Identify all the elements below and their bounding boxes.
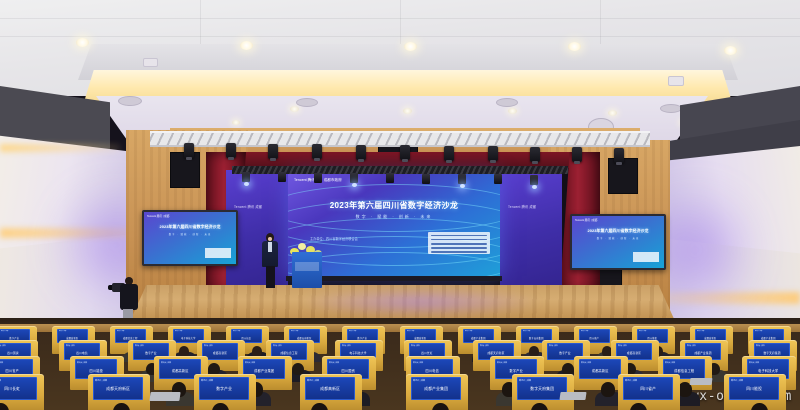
- seat-sign-badge: 腾讯云 | 成都: [291, 331, 298, 332]
- seat-sign-org: 成都高新区: [203, 351, 237, 355]
- main-screen-subtitle: 数字 · 赋能 · 创新 · 未来: [288, 214, 500, 220]
- seat-sign-org: 数字产业: [134, 351, 168, 355]
- stage-light-5: [356, 145, 366, 160]
- light-beam-3: [460, 184, 465, 188]
- seat-sign-badge: 腾讯云 | 成都: [77, 361, 87, 364]
- downlight-3: [404, 42, 417, 51]
- seat-sign-badge: 腾讯云 | 成都: [665, 361, 675, 364]
- seat-sign-badge: 腾讯云 | 成都: [581, 331, 588, 332]
- ceiling-vent-3: [496, 98, 518, 107]
- stage-light-7: [444, 146, 454, 161]
- seat-sign-badge: 腾讯云 | 成都: [342, 345, 351, 347]
- seat-sign-badge: 腾讯云 | 成都: [245, 361, 255, 364]
- inner-stage-light-3: [314, 173, 322, 183]
- led-panel-right: Tencent 腾讯 成都: [500, 170, 562, 288]
- speaker-shirt: [268, 242, 272, 252]
- downlight-1: [76, 38, 89, 47]
- inner-stage-light-7: [458, 174, 466, 184]
- seat-sign-badge: 腾讯云 | 成都: [349, 331, 356, 332]
- seat-sign-badge: 腾讯云 | 成都: [161, 361, 171, 364]
- auditorium-photo: Tencent 腾讯 成都 Tencent 腾讯 成都 Tencent 腾讯 |…: [0, 0, 800, 410]
- inner-stage-light-1: [242, 172, 250, 182]
- seat-name-sign: 腾讯云 | 成都成都天府新区: [93, 377, 143, 400]
- seat-sign-badge: 腾讯云 | 成都: [731, 379, 743, 382]
- seat-sign-org: 四川国资: [328, 368, 368, 373]
- audience-member-head: [601, 382, 615, 397]
- seat-sign-badge: 腾讯云 | 成都: [273, 345, 282, 347]
- stage-light-10: [572, 147, 582, 162]
- seat-sign-badge: 腾讯云 | 成都: [0, 345, 6, 347]
- downlight-4: [568, 42, 581, 51]
- inner-stage-light-4: [350, 173, 358, 183]
- inner-stage-light-2: [278, 172, 286, 182]
- seat-sign-org: 数字产业: [0, 336, 29, 340]
- seat-sign-org: 数字天府集团: [755, 351, 789, 355]
- seat-sign-org: 数字产业: [348, 336, 377, 340]
- stage-light-11: [614, 148, 624, 163]
- seat-sign-org: 成都信息工程: [116, 336, 145, 340]
- seat-sign-org: 成都产业集团: [686, 351, 720, 355]
- seat-sign-badge: 腾讯云 | 成都: [201, 379, 213, 382]
- seat-sign-badge: 腾讯云 | 成都: [66, 345, 75, 347]
- seat-sign-org: 电子科技大学: [341, 351, 375, 355]
- seat-name-sign: 腾讯云 | 成都成都产业集团: [411, 377, 461, 400]
- seat-sign-org: 四川省产: [580, 336, 609, 340]
- side-screen-right-title: 2023年第六届四川省数字经济沙龙: [572, 228, 664, 234]
- side-screen-left-title: 2023年第六届四川省数字经济沙龙: [144, 224, 236, 230]
- seat-sign-org: 数字产业: [548, 351, 582, 355]
- seat-sign-badge: 腾讯云 | 成都: [1, 331, 8, 332]
- seat-sign-org: 成都天府新区: [94, 387, 142, 392]
- seat-sign-badge: 腾讯云 | 成都: [117, 331, 124, 332]
- main-screen-info-card: [428, 232, 490, 254]
- stage-light-3: [268, 144, 278, 159]
- stage-light-4: [312, 144, 322, 159]
- downlight-5: [724, 46, 737, 55]
- seat-sign-badge: 腾讯云 | 成都: [204, 345, 213, 347]
- seat-name-sign: 腾讯云 | 成都四川省产: [623, 377, 673, 400]
- side-screen-right-subtitle: 数字 · 赋能 · 创新 · 未来: [572, 236, 664, 240]
- side-screen-left-card: [205, 248, 231, 258]
- wall-uplight-left-top: [0, 144, 120, 152]
- seat-sign-badge: 腾讯云 | 成都: [329, 361, 339, 364]
- seat-sign-badge: 腾讯云 | 成都: [307, 379, 319, 382]
- seat-sign-badge: 腾讯云 | 成都: [618, 345, 627, 347]
- seat-sign-org: 四川国资: [0, 351, 30, 355]
- main-screen-logo-1: Tencent 腾讯: [294, 178, 315, 183]
- seat-sign-org: 成都高新区: [696, 336, 725, 340]
- seat-sign-org: 四川长虹: [410, 351, 444, 355]
- seat-sign-org: 数字天府集团: [522, 336, 551, 340]
- ceiling-vent-4: [660, 104, 682, 113]
- seat-sign-badge: 腾讯云 | 成都: [497, 361, 507, 364]
- podium-front-panel: [295, 262, 319, 271]
- seat-sign-org: 成都天府新区: [290, 336, 319, 340]
- seat-sign-badge: 腾讯云 | 成都: [523, 331, 530, 332]
- downlight-2: [240, 41, 253, 50]
- audience-laptop: [690, 378, 713, 385]
- seat-sign-org: 成都产业集团: [464, 336, 493, 340]
- seat-sign-org: 四川能投: [76, 368, 116, 373]
- downlight-inner-2: [403, 108, 412, 114]
- seat-sign-badge: 腾讯云 | 成都: [413, 361, 423, 364]
- seat-sign-badge: 腾讯云 | 成都: [549, 345, 558, 347]
- seat-sign-org: 四川省产: [0, 368, 32, 373]
- seat-sign-badge: 腾讯云 | 成都: [95, 379, 107, 382]
- stage-light-9: [530, 147, 540, 162]
- seat-sign-org: 四川能投: [638, 336, 667, 340]
- seat-sign-badge: 腾讯云 | 成都: [0, 361, 3, 364]
- inner-stage-light-8: [494, 174, 502, 184]
- seat-sign-org: 数字产业: [496, 368, 536, 373]
- seat-sign-badge: 腾讯云 | 成都: [175, 331, 182, 332]
- seat-sign-org: 四川电信: [65, 351, 99, 355]
- side-screen-right-header: Tencent 腾讯 | 成都: [575, 218, 597, 222]
- downlight-inner-4: [608, 110, 617, 116]
- seat-sign-org: 成都高新区: [406, 336, 435, 340]
- seat-sign-org: 数字天府集团: [518, 387, 566, 392]
- seat-sign-org: 成都高新区: [617, 351, 651, 355]
- ceiling-vent-2: [296, 98, 318, 107]
- downlight-inner-3: [508, 108, 517, 114]
- seat-sign-badge: 腾讯云 | 成都: [749, 361, 759, 364]
- seat-sign-org: 成都高新区: [58, 336, 87, 340]
- seat-sign-org: 成都高新区: [306, 387, 354, 392]
- side-screen-right: Tencent 腾讯 | 成都 2023年第六届四川省数字经济沙龙 数字 · 赋…: [570, 214, 666, 270]
- seat-name-sign: 腾讯云 | 成都成都高新区: [305, 377, 355, 400]
- seat-sign-badge: 腾讯云 | 成都: [519, 379, 531, 382]
- audience-laptop: [149, 392, 180, 401]
- stage-light-6: [400, 145, 410, 160]
- wall-panel-right-upper: [608, 158, 638, 194]
- seat-sign-org: 四川电信: [412, 368, 452, 373]
- inner-stage-light-9: [530, 175, 538, 185]
- seat-sign-badge: 腾讯云 | 成都: [697, 331, 704, 332]
- seat-sign-org: 电子科技大学: [748, 368, 788, 373]
- seat-sign-org: 成都高新区: [160, 368, 200, 373]
- cameraman-body: [120, 284, 138, 310]
- main-screen-title: 2023年第六届四川省数字经济沙龙: [288, 200, 500, 211]
- seat-sign-badge: 腾讯云 | 成都: [465, 331, 472, 332]
- seat-sign-badge: 腾讯云 | 成都: [687, 345, 696, 347]
- seat-sign-badge: 腾讯云 | 成都: [411, 345, 420, 347]
- seat-sign-badge: 腾讯云 | 成都: [59, 331, 66, 332]
- seat-sign-org: 四川省产: [624, 387, 672, 392]
- downlight-inner-1: [290, 106, 299, 112]
- speaker-legs: [266, 266, 275, 288]
- seat-name-sign: 腾讯云 | 成都四川长虹: [0, 377, 37, 400]
- main-screen-logo-2: 成都市政府: [324, 178, 342, 183]
- side-screen-right-card: [633, 252, 659, 262]
- stage-floor-light-wash: [300, 288, 540, 316]
- stage-light-1: [184, 143, 194, 158]
- seat-sign-badge: 腾讯云 | 成都: [756, 345, 765, 347]
- seat-sign-org: 电子科技大学: [174, 336, 203, 340]
- seat-sign-org: 成都产业集团: [244, 368, 284, 373]
- light-beam-4: [532, 185, 537, 189]
- inner-stage-light-5: [386, 173, 394, 183]
- side-screen-left-subtitle: 数字 · 赋能 · 创新 · 未来: [144, 232, 236, 236]
- side-screen-left-header: Tencent 腾讯 | 成都: [147, 214, 169, 218]
- ceiling-speaker-right: [668, 76, 684, 86]
- downlight-inner-5: [232, 120, 240, 125]
- led-panel-left-logo: Tencent 腾讯 成都: [234, 204, 262, 209]
- seat-sign-badge: 腾讯云 | 成都: [480, 345, 489, 347]
- seat-sign-org: 四川长虹: [0, 387, 36, 392]
- seat-sign-badge: 腾讯云 | 成都: [625, 379, 637, 382]
- seat-name-sign: 腾讯云 | 成都成都高新区: [579, 359, 621, 379]
- seat-sign-badge: 腾讯云 | 成都: [413, 379, 425, 382]
- ceiling-speaker-left: [143, 58, 158, 67]
- stage-light-8: [488, 146, 498, 161]
- seat-sign-org: 成都产业集团: [754, 336, 783, 340]
- seat-sign-badge: 腾讯云 | 成都: [407, 331, 414, 332]
- seat-sign-badge: 腾讯云 | 成都: [639, 331, 646, 332]
- light-beam-1: [244, 182, 249, 186]
- led-panel-right-logo: Tencent 腾讯 成都: [508, 204, 536, 209]
- seat-name-sign: 腾讯云 | 成都数字产业: [199, 377, 249, 400]
- seat-name-sign: 腾讯云 | 成都四川能投: [729, 377, 779, 400]
- audience-laptop: [559, 392, 586, 400]
- stage-light-2: [226, 143, 236, 158]
- seat-sign-org: 四川长虹: [232, 336, 261, 340]
- ceiling-vent-1: [118, 96, 142, 106]
- inner-stage-light-6: [422, 174, 430, 184]
- seat-sign-org: 数字产业: [200, 387, 248, 392]
- seat-sign-org: 成都天府新区: [479, 351, 513, 355]
- seat-sign-org: 成都产业集团: [412, 387, 460, 392]
- seat-sign-org: 成都信息工程: [664, 368, 704, 373]
- seat-sign-badge: 腾讯云 | 成都: [581, 361, 591, 364]
- seat-sign-badge: 腾讯云 | 成都: [233, 331, 240, 332]
- seat-sign-badge: 腾讯云 | 成都: [135, 345, 144, 347]
- seat-sign-badge: 腾讯云 | 成都: [755, 331, 762, 332]
- seat-sign-org: 四川能投: [730, 387, 778, 392]
- seat-sign-org: 成都信息工程: [272, 351, 306, 355]
- light-beam-2: [352, 183, 357, 187]
- seat-sign-org: 成都高新区: [580, 368, 620, 373]
- seat-sign-badge: 腾讯云 | 成都: [0, 379, 1, 382]
- side-screen-left: Tencent 腾讯 | 成都 2023年第六届四川省数字经济沙龙 数字 · 赋…: [142, 210, 238, 266]
